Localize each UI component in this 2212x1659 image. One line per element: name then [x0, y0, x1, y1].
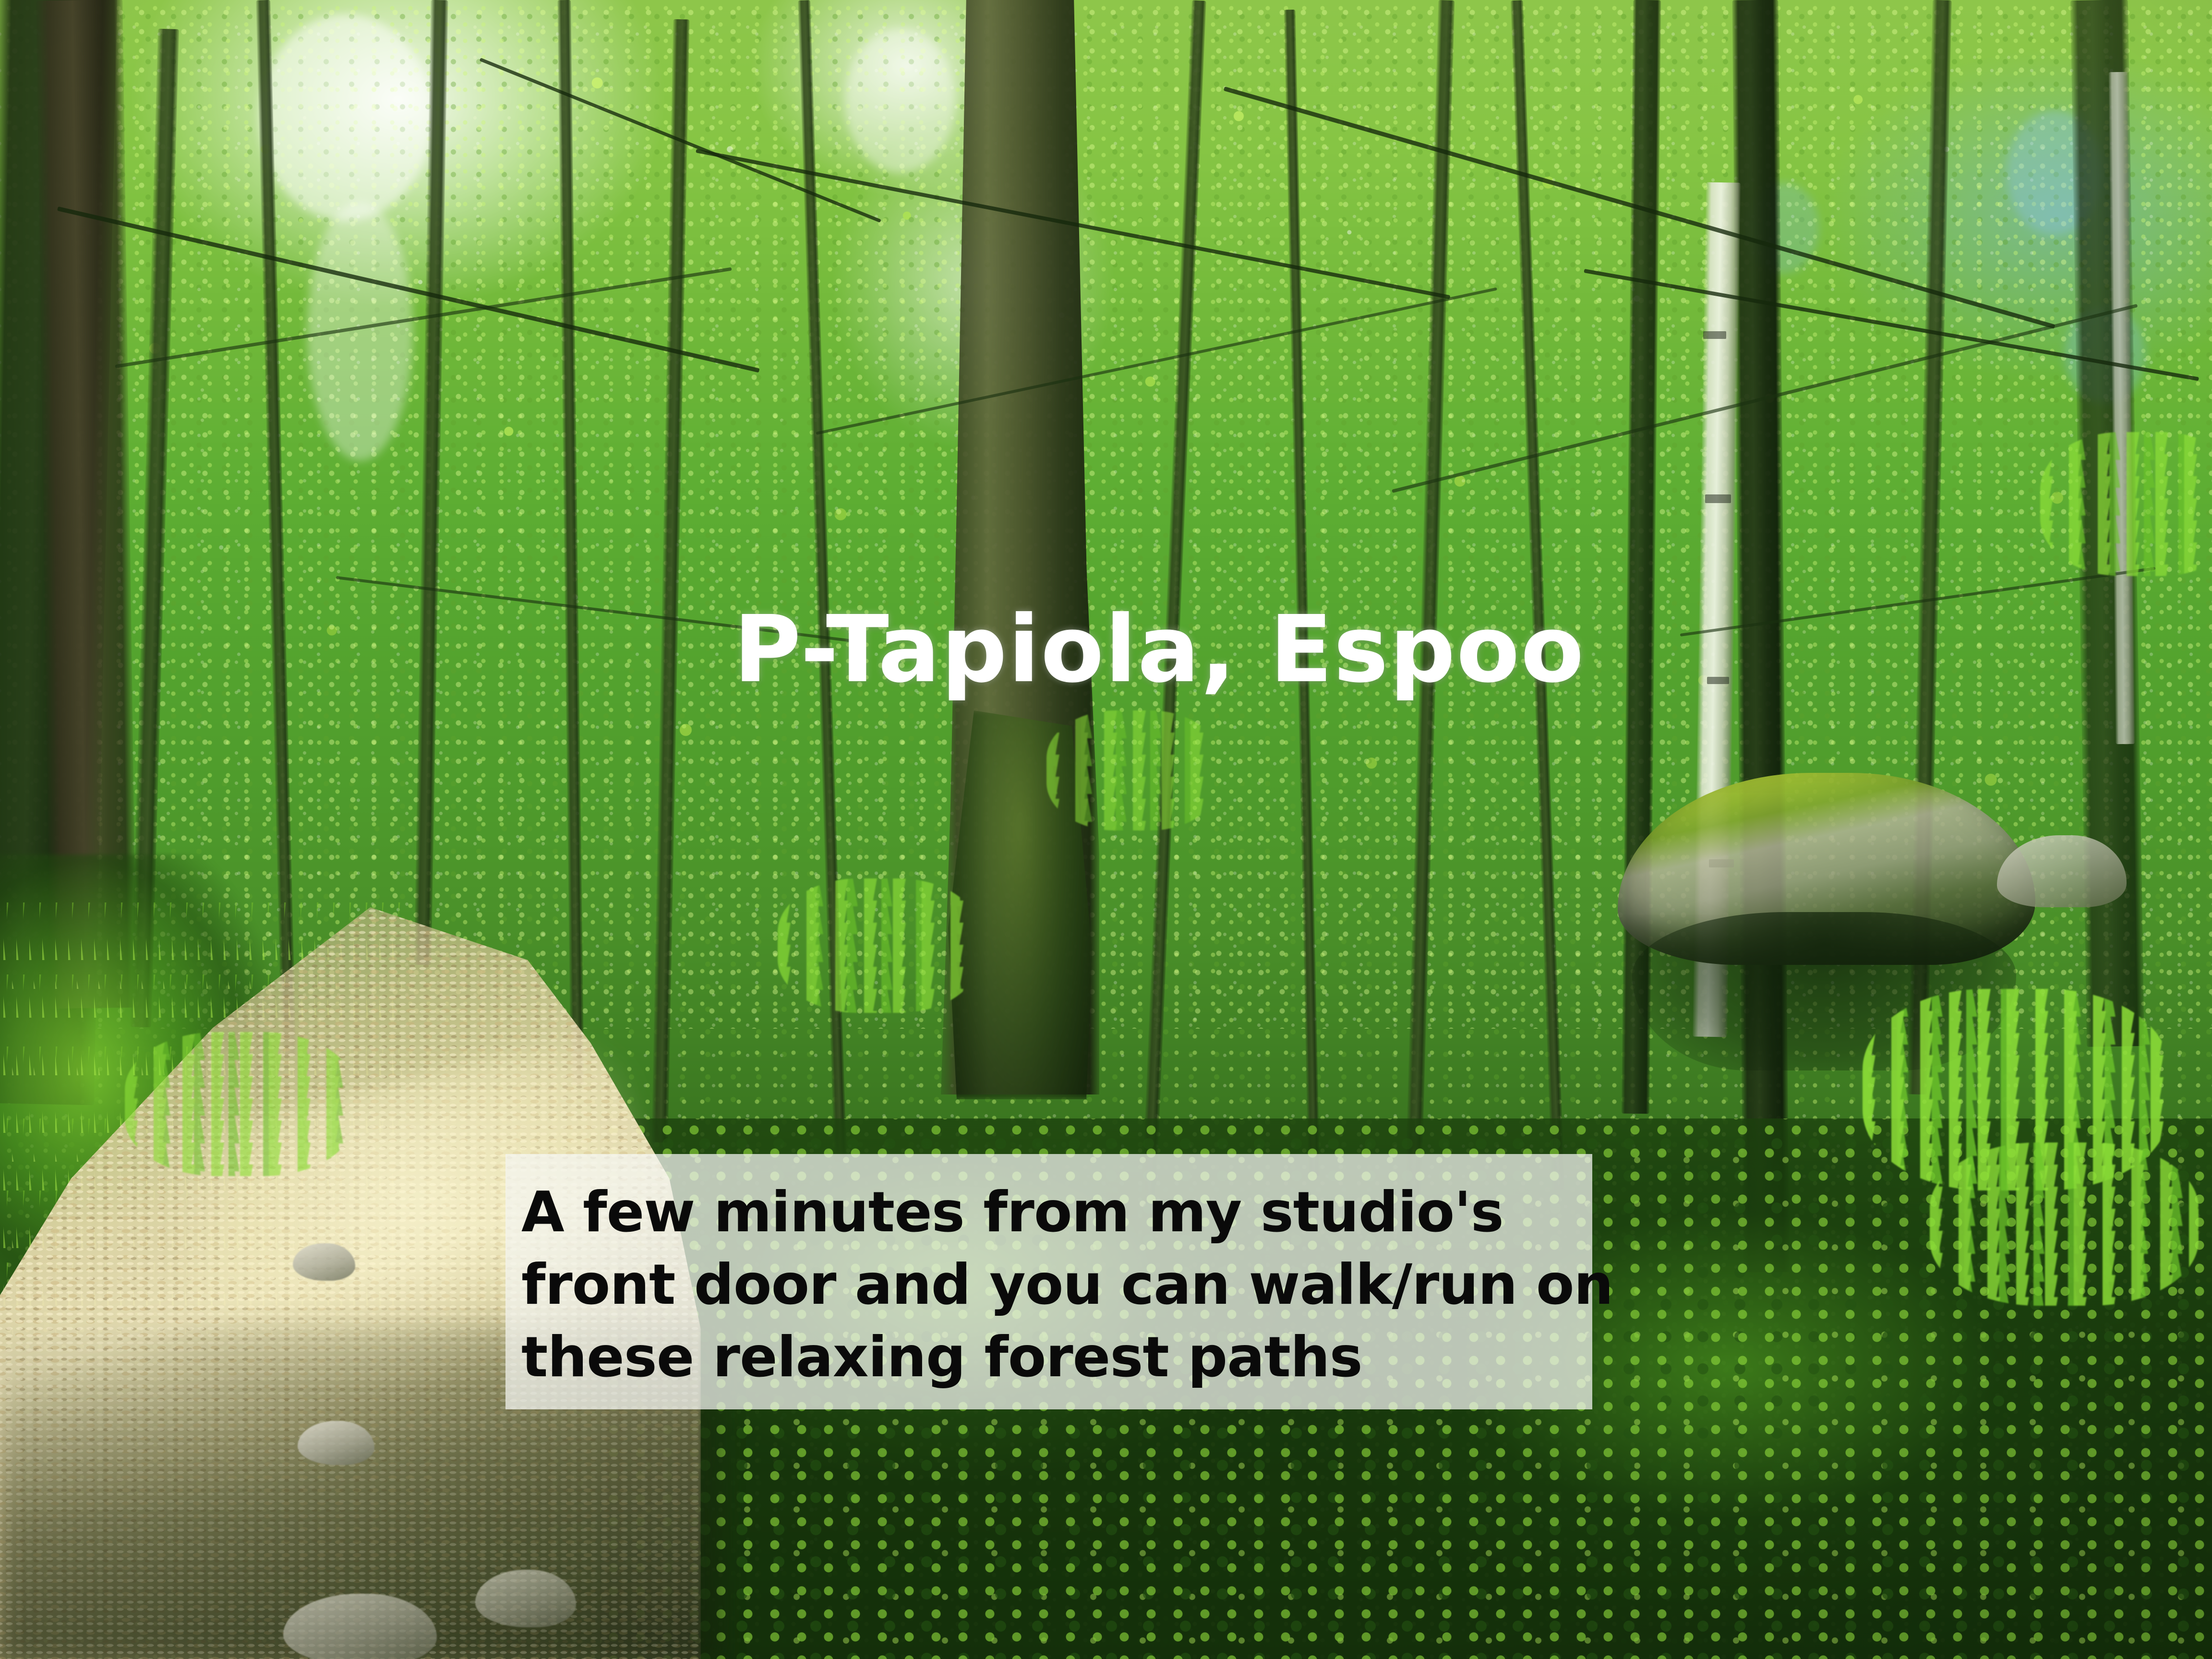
forest-photograph	[0, 0, 2212, 1659]
caption-line-2: front door and you can walk/run on	[521, 1249, 1592, 1321]
caption-panel: A few minutes from my studio's front doo…	[505, 1154, 1592, 1409]
path-stone	[475, 1570, 576, 1627]
birch-bark-mark	[1707, 677, 1729, 684]
fern-leaf-cluster	[778, 878, 979, 1013]
birch-bark-mark	[1703, 331, 1726, 339]
fern-leaf-cluster	[125, 1032, 355, 1176]
page-title: P-Tapiola, Espoo	[733, 604, 1585, 696]
sky-gap-icon	[307, 202, 413, 461]
caption-line-3: these relaxing forest paths	[521, 1321, 1592, 1394]
fern-leaf-cluster	[1046, 710, 1219, 830]
sky-gap-icon	[845, 29, 955, 173]
path-stone	[298, 1421, 374, 1465]
caption-line-1: A few minutes from my studio's	[521, 1176, 1592, 1249]
sky-gap-icon	[259, 14, 432, 221]
fern-leaf-cluster	[2040, 432, 2212, 576]
birch-bark-mark	[1705, 494, 1731, 503]
fern-leaf-cluster	[1930, 1142, 2199, 1306]
photo-slide: P-Tapiola, Espoo A few minutes from my s…	[0, 0, 2212, 1659]
path-stone	[293, 1243, 355, 1281]
